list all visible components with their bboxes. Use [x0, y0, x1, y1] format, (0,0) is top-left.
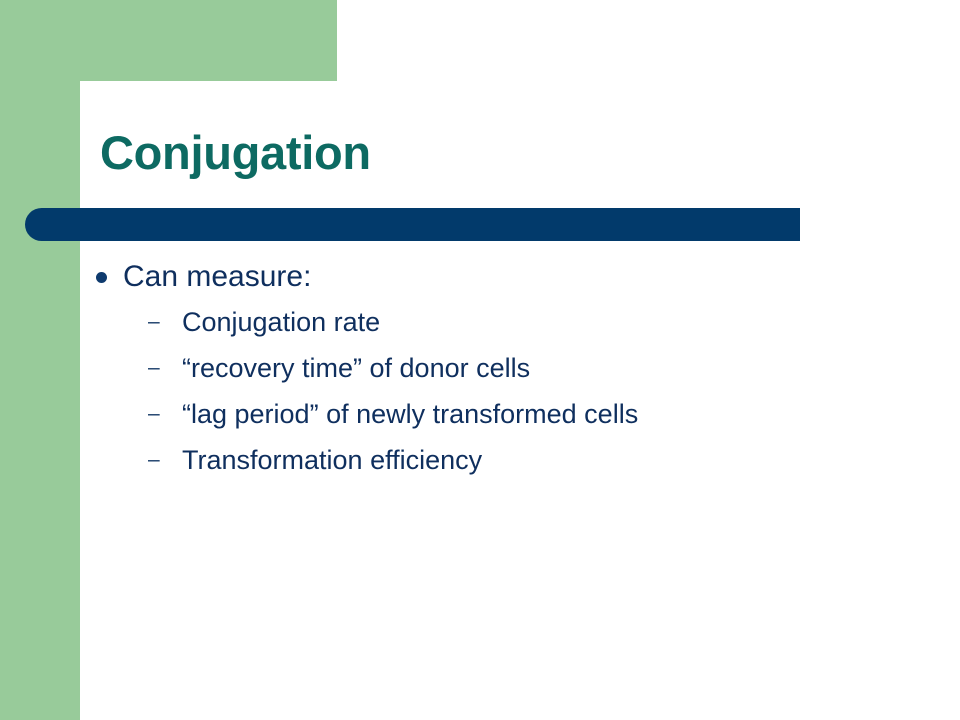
- slide: Conjugation Can measure: – Conjugation r…: [0, 0, 960, 720]
- bullet-dash-icon: –: [148, 391, 171, 437]
- slide-title: Conjugation: [100, 129, 371, 176]
- bullet-dot-icon: [96, 272, 107, 283]
- bullet-level2: – “lag period” of newly transformed cell…: [96, 391, 896, 437]
- bullet-level2-label: “recovery time” of donor cells: [182, 345, 896, 391]
- bullet-level1-label: Can measure:: [123, 258, 896, 296]
- slide-body: Can measure: – Conjugation rate – “recov…: [96, 258, 896, 483]
- navy-title-rule: [25, 208, 800, 241]
- bullet-level2-label: “lag period” of newly transformed cells: [182, 391, 896, 437]
- bullet-dash-icon: –: [148, 345, 171, 391]
- bullet-level2-label: Conjugation rate: [182, 299, 896, 345]
- bullet-dash-icon: –: [148, 437, 171, 483]
- bullet-level2: – “recovery time” of donor cells: [96, 345, 896, 391]
- bullet-level1: Can measure:: [96, 258, 896, 296]
- green-header-block: [0, 0, 337, 81]
- sub-bullet-list: – Conjugation rate – “recovery time” of …: [96, 299, 896, 483]
- bullet-dash-icon: –: [148, 299, 171, 345]
- bullet-level2: – Transformation efficiency: [96, 437, 896, 483]
- bullet-level2: – Conjugation rate: [96, 299, 896, 345]
- bullet-level2-label: Transformation efficiency: [182, 437, 896, 483]
- green-side-strip: [0, 0, 80, 720]
